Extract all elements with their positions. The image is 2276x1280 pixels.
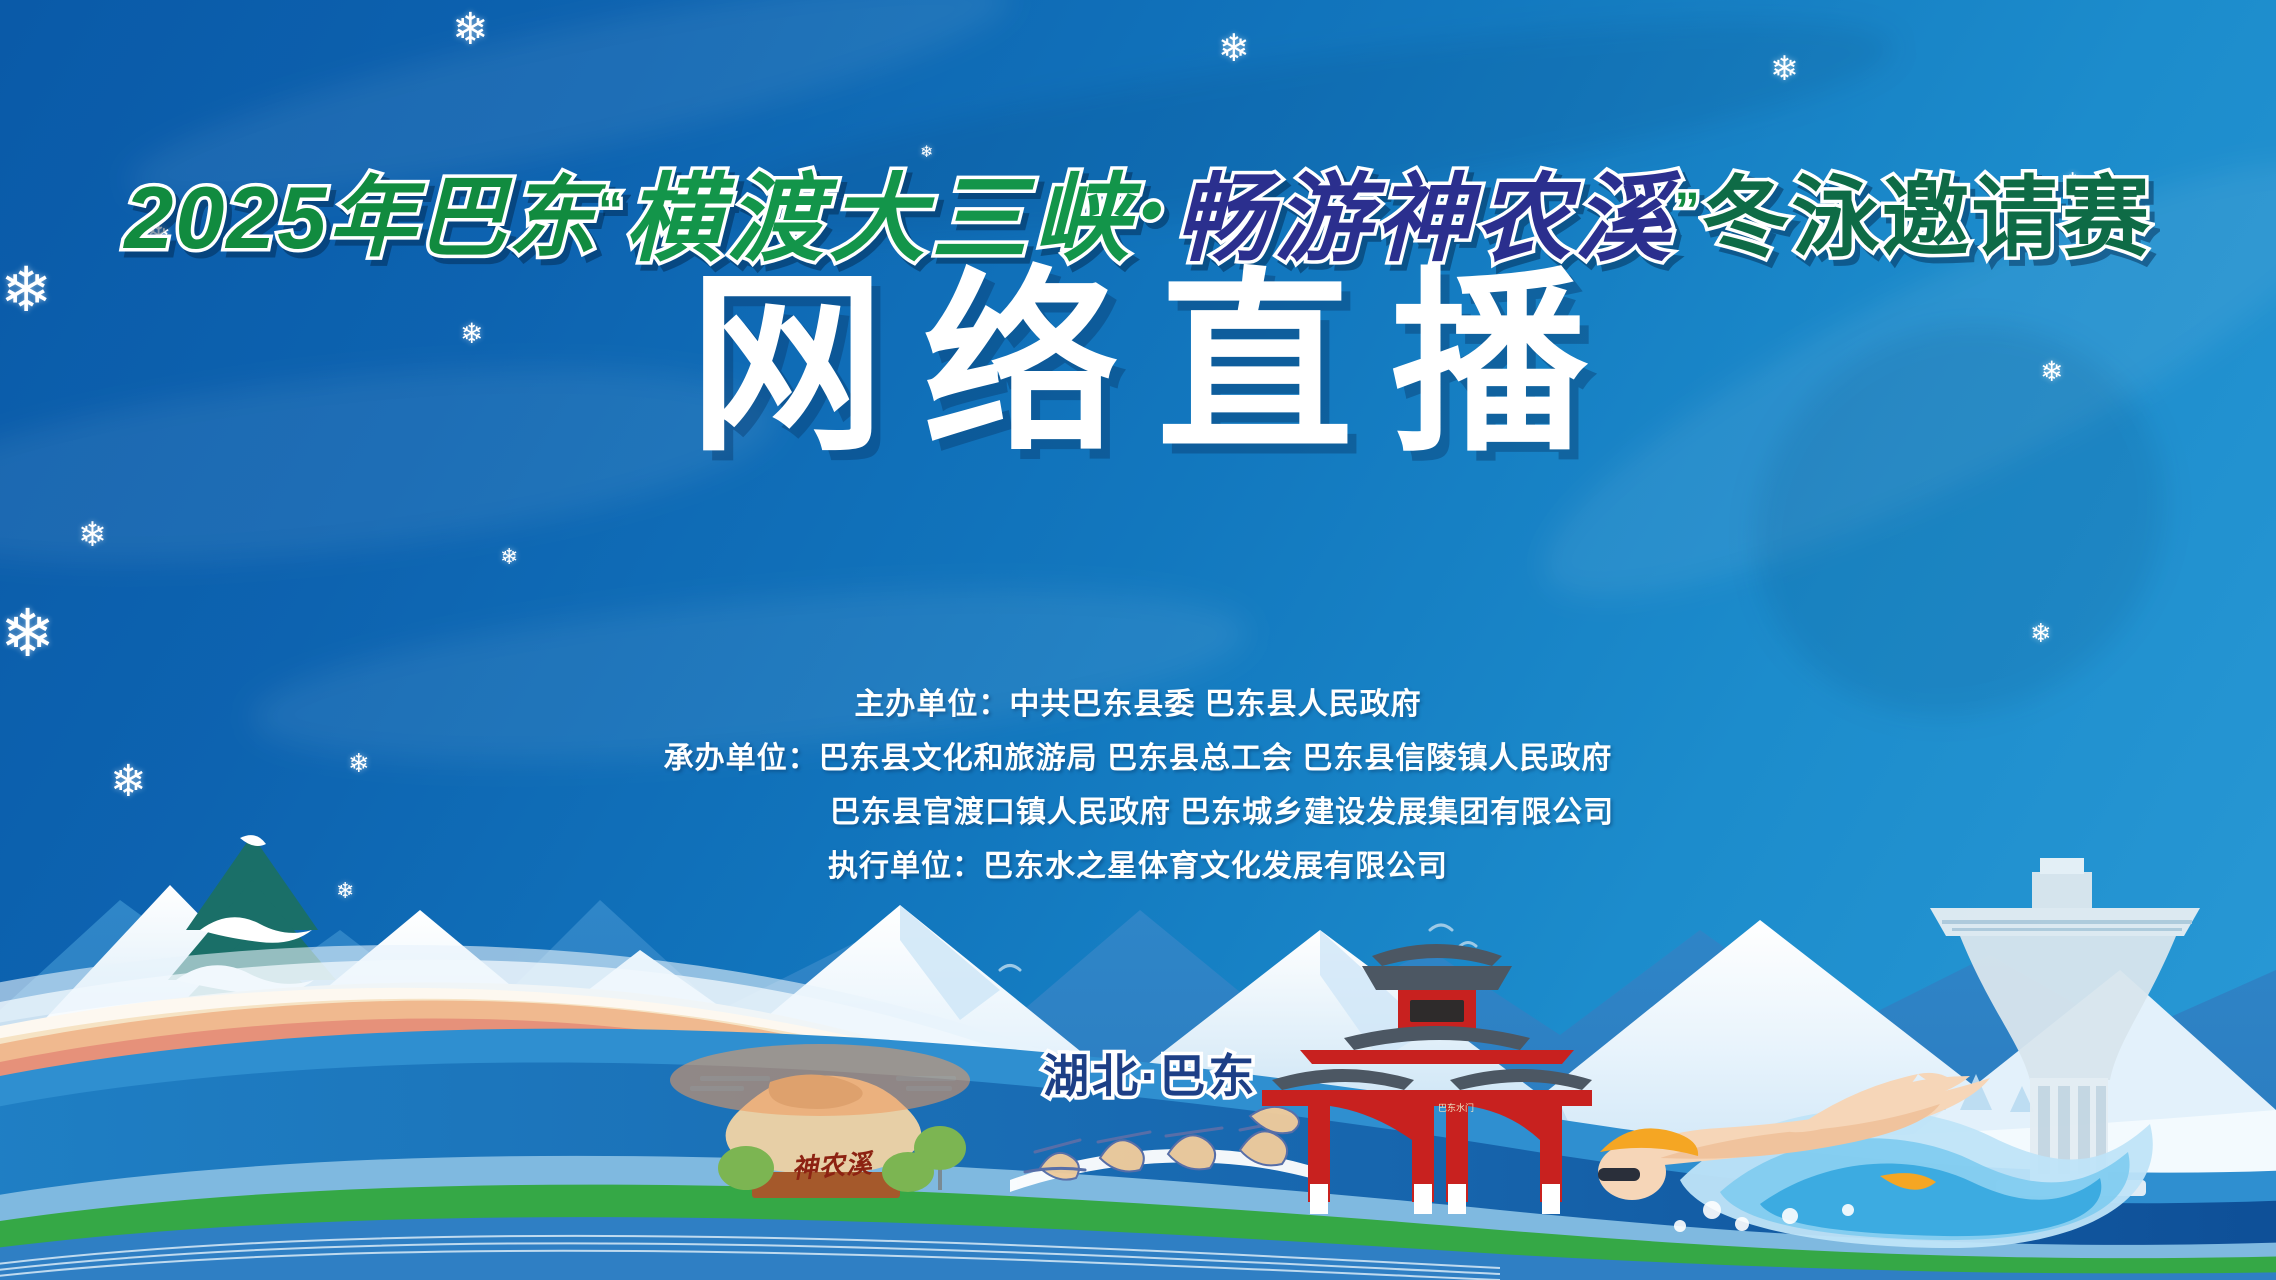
snowflake-icon: ❄	[1218, 30, 1250, 68]
organizer-line: 主办单位：中共巴东县委 巴东县人民政府	[0, 678, 2276, 732]
headline-year-city: 2025年巴东	[124, 147, 598, 274]
sunset-glow	[670, 1044, 970, 1116]
goggles	[1598, 1168, 1640, 1181]
snowflake-icon: ❄	[2030, 620, 2052, 646]
page-title: 网络直播	[0, 262, 2276, 468]
snowflake-icon: ❄	[0, 600, 55, 666]
organizer-label: 主办单位：	[854, 678, 1009, 732]
headline-quote-open: “	[598, 181, 625, 239]
snowflake-icon: ❄	[78, 518, 107, 552]
organizer-value: 中共巴东县委 巴东县人民政府	[1009, 688, 1421, 721]
headline-quote-close: ”	[1675, 181, 1702, 239]
organizer-line: 承办单位：巴东县文化和旅游局 巴东县总工会 巴东县信陵镇人民政府	[0, 732, 2276, 786]
headline-event: 冬泳邀请赛	[1702, 147, 2152, 274]
snowflake-icon: ❄	[452, 8, 489, 52]
organizer-value: 巴东县文化和旅游局 巴东县总工会 巴东县信陵镇人民政府	[819, 742, 1613, 775]
event-headline: 2025年巴东 “ 横渡大三峡 · 畅游神农溪 ” 冬泳邀请赛	[0, 150, 2276, 270]
snowflake-icon: ❄	[500, 546, 518, 568]
poster-canvas: ❄ ❄ ❄ ❄ ❄ ❄ ❄ ❄ ❄ ❄ ❄ ❄ ❄ ❄ ❄ ❄ 2025年巴东 …	[0, 0, 2276, 1280]
place-label: 湖北·巴东	[1043, 1040, 1257, 1106]
scenery-illustration	[0, 780, 2276, 1280]
organizer-label: 承办单位：	[664, 732, 819, 786]
headline-slogan-dot: ·	[1135, 154, 1174, 267]
snowflake-icon: ❄	[1770, 52, 1799, 86]
gate-plaque-label: 巴东水门	[1430, 1101, 1482, 1114]
